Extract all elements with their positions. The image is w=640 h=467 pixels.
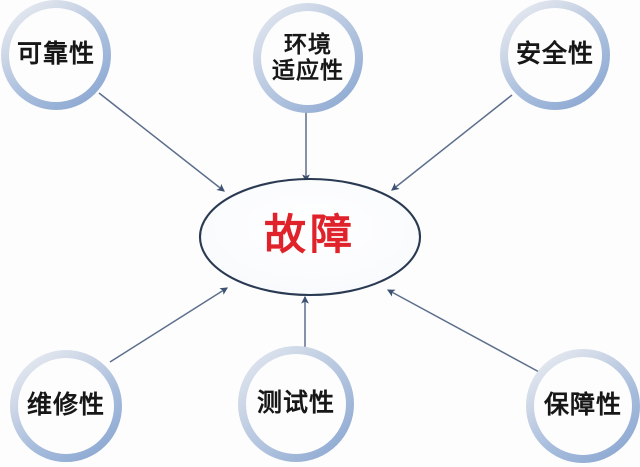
node-supportability-circle[interactable] bbox=[530, 353, 636, 459]
diagram-svg bbox=[0, 0, 640, 467]
edge-safety-to-center bbox=[392, 95, 512, 190]
node-environmental-adaptability-circle[interactable] bbox=[257, 7, 359, 109]
edge-reliability-to-center bbox=[99, 93, 224, 191]
node-maintainability-circle[interactable] bbox=[14, 354, 118, 458]
node-testability-circle[interactable] bbox=[242, 350, 350, 458]
edge-maintainability-to-center bbox=[110, 288, 227, 362]
diagram-canvas: 可靠性 环境 适应性 安全性 维修性 测试性 保障性 故障 bbox=[0, 0, 640, 467]
center-node-ellipse[interactable] bbox=[200, 179, 420, 295]
node-safety-circle[interactable] bbox=[504, 4, 606, 106]
node-reliability-circle[interactable] bbox=[5, 4, 107, 106]
edge-supportability-to-center bbox=[388, 290, 541, 373]
